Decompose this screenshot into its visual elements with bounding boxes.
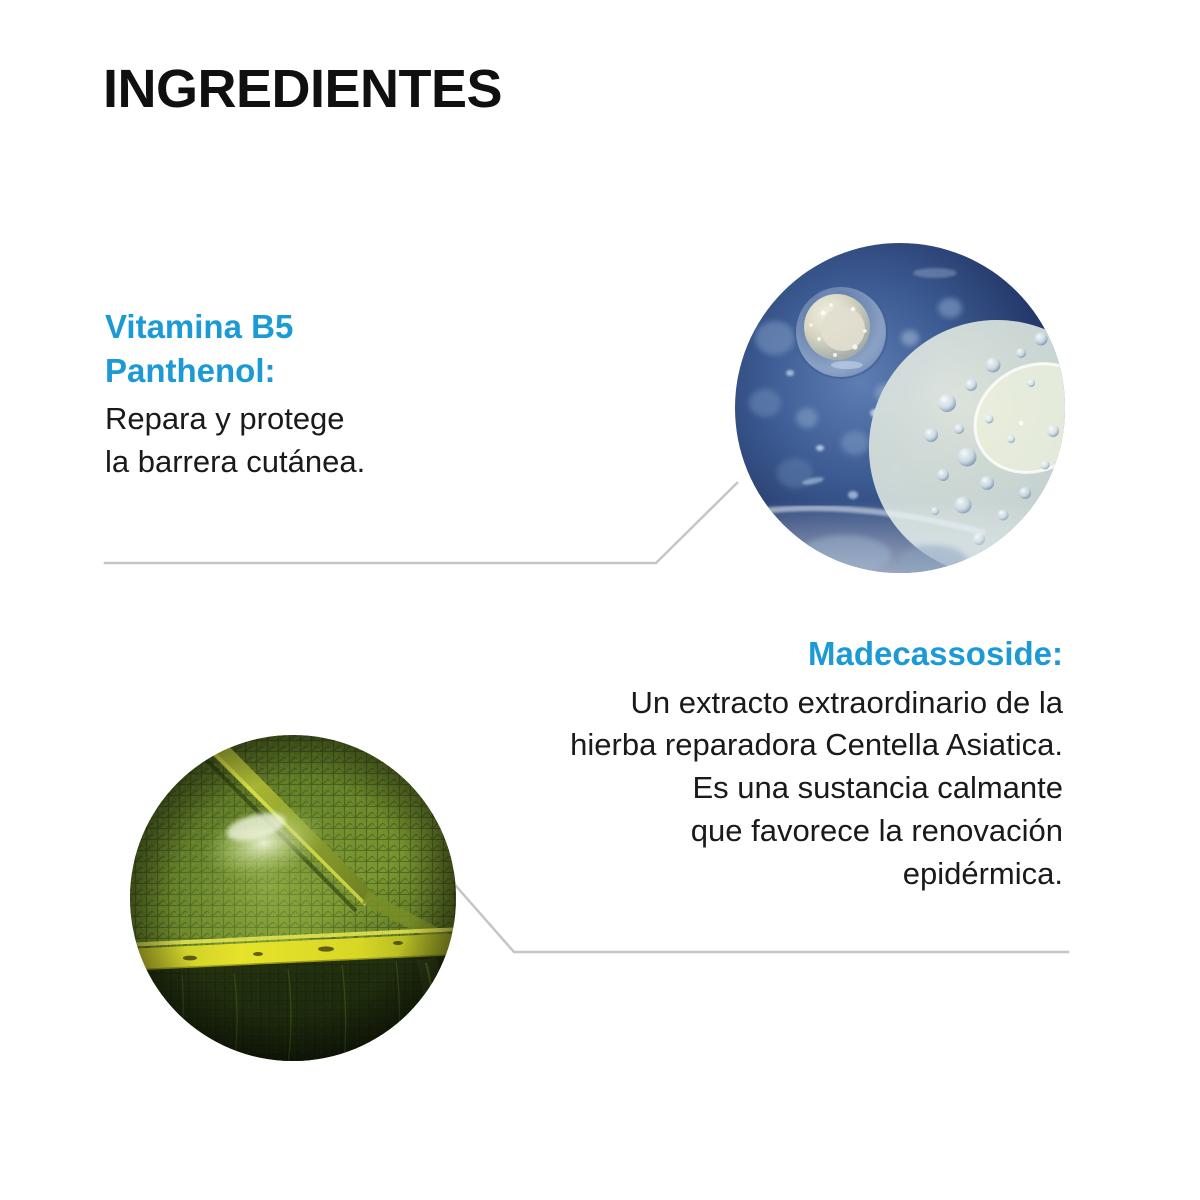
ingredient-heading-madecassoside: Madecassoside: [463, 632, 1063, 676]
ingredient-block-madecassoside: Madecassoside: Un extracto extraordinari… [463, 632, 1063, 895]
ingredient-body-madecassoside: Un extracto extraordinario de la hierba … [463, 682, 1063, 896]
blue-water-droplets-artwork [735, 243, 1065, 573]
ingredient-body-vitamina-b5: Repara y protege la barrera cutánea. [105, 398, 535, 484]
blue-water-droplets-photo [735, 243, 1065, 573]
ingredient-heading-vitamina-b5: Vitamina B5 Panthenol: [105, 305, 535, 392]
connector-line-vitamina-b5 [100, 475, 745, 575]
green-leaf-macro-artwork [130, 735, 456, 1061]
ingredient-block-vitamina-b5: Vitamina B5 Panthenol: Repara y protege … [105, 305, 535, 484]
green-leaf-macro-photo [130, 735, 456, 1061]
ingredients-infographic: INGREDIENTES Vitamina B5 Panthenol: Repa… [0, 0, 1200, 1200]
page-title: INGREDIENTES [103, 62, 502, 116]
